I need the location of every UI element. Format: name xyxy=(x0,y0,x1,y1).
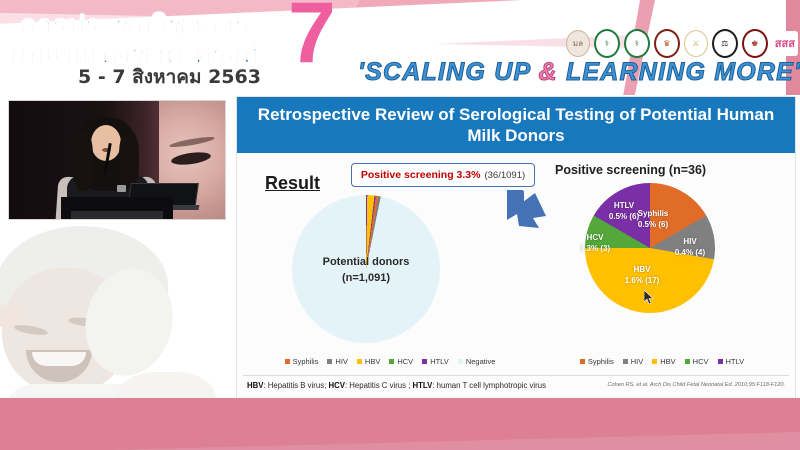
footnote-htlv-val: : human T cell lymphotropic virus xyxy=(432,381,546,390)
footnote-hbv-val: : Hepatitis B virus; xyxy=(263,381,328,390)
logo-health-green-2-icon: ⚕ xyxy=(624,29,650,58)
positive-screening-legend: Syphilis HIV HBV HCV HTLV xyxy=(547,357,777,366)
legend2-swatch-hbv xyxy=(652,359,657,364)
slide-screenshot: การประชุมวิชาการ นมแม่แห่งชาติ ครั้งที่ … xyxy=(0,0,800,450)
slice-name-htlv: HTLV xyxy=(603,201,645,212)
legend2-label-htlv: HTLV xyxy=(726,357,745,366)
legend-swatch-hiv xyxy=(327,359,332,364)
legend-swatch-htlv xyxy=(422,359,427,364)
legend2-label-syphilis: Syphilis xyxy=(588,357,614,366)
legend-swatch-syphilis xyxy=(285,359,290,364)
legend-item-htlv: HTLV xyxy=(422,357,449,366)
tagline-ampersand: & xyxy=(539,58,558,86)
legend-swatch-negative xyxy=(458,359,463,364)
pie-slice-label-htlv: HTLV 0.5% (6) xyxy=(603,201,645,223)
legend2-swatch-syphilis xyxy=(580,359,585,364)
footnote-hcv-val: : Hepatitis C virus ; xyxy=(345,381,413,390)
legend-item-hbv: HBV xyxy=(357,357,380,366)
slice-name-hbv: HBV xyxy=(615,265,669,276)
legend-item-syphilis: Syphilis xyxy=(285,357,319,366)
legend-label-htlv: HTLV xyxy=(430,357,449,366)
logo-gold-crest-icon: ⚔ xyxy=(684,30,708,57)
pie-slice-label-hcv: HCV 0.3% (3) xyxy=(575,233,615,255)
slice-pct-htlv: 0.5% (6) xyxy=(603,212,645,223)
logo-ministry-black-icon: ⚖ xyxy=(712,29,738,58)
blue-arrow-icon xyxy=(504,185,552,229)
potential-donors-legend: Syphilis HIV HBV HCV HTLV Negative xyxy=(265,357,515,366)
legend2-label-hiv: HIV xyxy=(631,357,644,366)
slide-citation: Cohen RS, et al. Arch Dis Child Fetal Ne… xyxy=(607,382,785,388)
legend2-swatch-htlv xyxy=(718,359,723,364)
footer-pink-band xyxy=(0,398,800,450)
legend-swatch-hcv xyxy=(389,359,394,364)
legend2-item-syphilis: Syphilis xyxy=(580,357,614,366)
conference-tagline: 'SCALING UP & LEARNING MORE' xyxy=(358,58,800,87)
tagline-post: LEARNING MORE' xyxy=(558,58,800,86)
callout-emphasis: Positive screening 3.3% xyxy=(361,169,481,181)
legend-label-hcv: HCV xyxy=(397,357,413,366)
slice-name-hiv: HIV xyxy=(669,237,711,248)
positive-screening-callout: Positive screening 3.3% (36/1091) xyxy=(351,163,535,187)
legend-item-hiv: HIV xyxy=(327,357,348,366)
callout-detail: (36/1091) xyxy=(484,170,525,181)
legend-item-negative: Negative xyxy=(458,357,496,366)
conference-edition-number: 7 xyxy=(288,0,336,76)
presentation-slide: Retrospective Review of Serological Test… xyxy=(236,96,796,410)
legend-swatch-hbv xyxy=(357,359,362,364)
baby-teeth xyxy=(32,352,86,366)
footnote-hbv-key: HBV xyxy=(247,381,263,390)
footnote-hcv-key: HCV xyxy=(328,381,344,390)
speaker-badge xyxy=(117,185,126,192)
sponsor-logo-strip: มล ⚕ ⚕ ♛ ⚔ ⚖ ♚ สสส xyxy=(566,26,798,60)
pie-slice-label-hiv: HIV 0.4% (4) xyxy=(669,237,711,259)
tagline-pre: 'SCALING UP xyxy=(358,58,539,86)
potential-donors-pie-label: Potential donors (n=1,091) xyxy=(292,255,440,287)
podium-base xyxy=(71,211,163,219)
logo-royal-emblem-icon: ♛ xyxy=(654,29,680,58)
logo-health-green-1-icon: ⚕ xyxy=(594,29,620,58)
footnote-divider xyxy=(243,375,789,376)
legend-label-negative: Negative xyxy=(466,357,496,366)
speaker-video-thumbnail[interactable] xyxy=(8,100,226,220)
legend2-swatch-hcv xyxy=(685,359,690,364)
legend-label-syphilis: Syphilis xyxy=(293,357,319,366)
slice-pct-hcv: 0.3% (3) xyxy=(575,244,615,255)
legend2-item-hbv: HBV xyxy=(652,357,675,366)
slice-pct-hbv: 1.6% (17) xyxy=(615,276,669,287)
slice-pct-hiv: 0.4% (4) xyxy=(669,248,711,259)
legend-label-hbv: HBV xyxy=(365,357,380,366)
legend2-item-hcv: HCV xyxy=(685,357,709,366)
abbreviation-footnote: HBV: Hepatitis B virus; HCV: Hepatitis C… xyxy=(247,381,546,390)
speaker-hair-right xyxy=(119,131,139,189)
legend2-label-hcv: HCV xyxy=(693,357,709,366)
legend2-swatch-hiv xyxy=(623,359,628,364)
conference-date-thai: 5 - 7 สิงหาคม 2563 xyxy=(78,62,261,92)
conference-banner: การประชุมวิชาการ นมแม่แห่งชาติ ครั้งที่ … xyxy=(0,0,800,95)
pie-slice-label-hbv: HBV 1.6% (17) xyxy=(615,265,669,287)
logo-foundation-icon: มล xyxy=(566,30,590,57)
legend-label-hiv: HIV xyxy=(335,357,348,366)
slice-name-hcv: HCV xyxy=(575,233,615,244)
legend2-label-hbv: HBV xyxy=(660,357,675,366)
legend2-item-htlv: HTLV xyxy=(718,357,745,366)
slide-title: Retrospective Review of Serological Test… xyxy=(237,97,795,153)
potential-donors-title: Potential donors xyxy=(292,255,440,271)
potential-donors-subtitle: (n=1,091) xyxy=(292,271,440,287)
speaker-hair-left xyxy=(73,131,93,191)
legend2-item-hiv: HIV xyxy=(623,357,644,366)
footnote-htlv-key: HTLV xyxy=(413,381,433,390)
result-heading: Result xyxy=(265,173,320,194)
logo-thaihealth-icon: สสส xyxy=(772,31,798,56)
legend-item-hcv: HCV xyxy=(389,357,413,366)
positive-screening-pie-title: Positive screening (n=36) xyxy=(555,163,785,177)
logo-red-crest-icon: ♚ xyxy=(742,29,768,58)
